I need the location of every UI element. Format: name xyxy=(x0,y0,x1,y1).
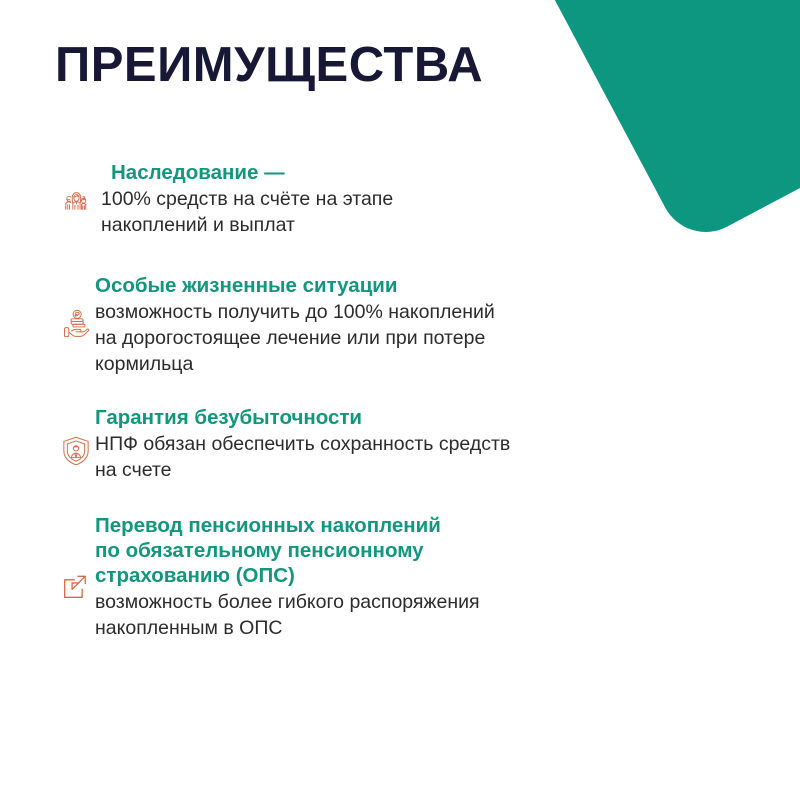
feature-body: возможность получить до 100% накоплений … xyxy=(95,299,495,377)
family-group-icon xyxy=(0,160,90,230)
feature-item-guarantee: Гарантия безубыточности НПФ обязан обесп… xyxy=(0,405,800,483)
slide-canvas: ПРЕИМУЩЕСТВА xyxy=(0,0,800,800)
page-title: ПРЕИМУЩЕСТВА xyxy=(55,36,483,94)
feature-text-inheritance: Наследование — 100% средств на счёте на … xyxy=(90,160,393,238)
feature-heading: Перевод пенсионных накоплений по обязате… xyxy=(95,513,480,588)
features-list: Наследование — 100% средств на счёте на … xyxy=(0,160,800,641)
feature-body: 100% средств на счёте на этапе накоплени… xyxy=(101,186,393,238)
feature-text-life-situations: Особые жизненные ситуации возможность по… xyxy=(90,273,495,377)
feature-body: возможность более гибкого распоряжения н… xyxy=(95,589,480,641)
share-arrow-out-icon xyxy=(0,513,90,617)
feature-text-transfer: Перевод пенсионных накоплений по обязате… xyxy=(90,513,480,641)
feature-text-guarantee: Гарантия безубыточности НПФ обязан обесп… xyxy=(90,405,510,483)
feature-body: НПФ обязан обеспечить сохранность средст… xyxy=(95,431,510,483)
feature-heading: Наследование — xyxy=(111,160,393,185)
feature-heading: Особые жизненные ситуации xyxy=(95,273,495,298)
hand-with-ruble-coins-icon xyxy=(0,273,90,357)
feature-heading: Гарантия безубыточности xyxy=(95,405,510,430)
feature-item-inheritance: Наследование — 100% средств на счёте на … xyxy=(0,160,800,238)
feature-item-life-situations: Особые жизненные ситуации возможность по… xyxy=(0,273,800,377)
shield-with-person-icon xyxy=(0,405,90,483)
feature-item-transfer: Перевод пенсионных накоплений по обязате… xyxy=(0,513,800,641)
